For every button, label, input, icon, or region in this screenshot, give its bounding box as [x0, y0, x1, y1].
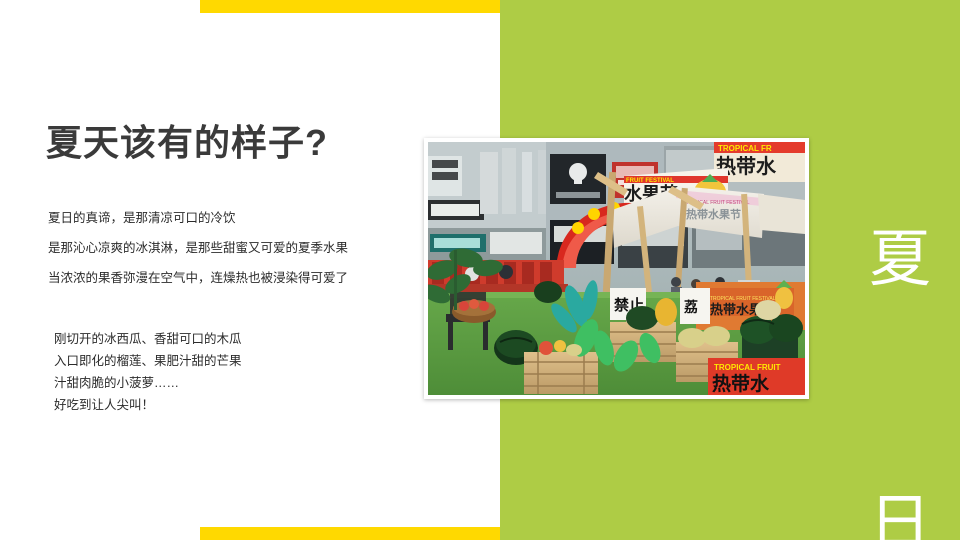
svg-text:TROPICAL FR: TROPICAL FR [718, 144, 772, 153]
vertical-title-char-1: 夏 [850, 216, 950, 304]
svg-text:荔: 荔 [683, 299, 698, 316]
fruit-list-block: 刚切开的冰西瓜、香甜可口的木瓜 入口即化的榴莲、果肥汁甜的芒果 汁甜肉脆的小菠萝… [54, 328, 384, 416]
svg-text:TROPICAL FRUIT: TROPICAL FRUIT [714, 363, 781, 372]
intro-paragraph-block: 夏日的真谛，是那清凉可口的冷饮 是那沁心凉爽的冰淇淋，是那些甜蜜又可爱的夏季水果… [48, 203, 418, 293]
vertical-festival-title: 夏 日 水 果 节 [850, 40, 950, 540]
intro-line: 是那沁心凉爽的冰淇淋，是那些甜蜜又可爱的夏季水果 [48, 233, 418, 263]
page-title: 夏天该有的样子? [46, 114, 328, 166]
svg-text:热带水果节: 热带水果节 [686, 207, 741, 221]
fruit-list-line: 刚切开的冰西瓜、香甜可口的木瓜 [54, 328, 384, 350]
festival-photo: TROPICAL FR 热带水 FRUIT FESTIVAL 水果节 [428, 142, 805, 395]
bottom-yellow-accent-bar [200, 527, 500, 540]
festival-photo-frame: TROPICAL FR 热带水 FRUIT FESTIVAL 水果节 [424, 138, 809, 399]
fruit-list-line: 入口即化的榴莲、果肥汁甜的芒果 [54, 350, 384, 372]
top-yellow-accent-bar [200, 0, 500, 13]
fruit-list-line: 汁甜肉脆的小菠萝…… [54, 372, 384, 394]
svg-text:热带水: 热带水 [712, 372, 770, 395]
slide-canvas: 夏 日 水 果 节 夏天该有的样子? 夏日的真谛，是那清凉可口的冷饮 是那沁心凉… [0, 0, 960, 540]
intro-line: 夏日的真谛，是那清凉可口的冷饮 [48, 203, 418, 233]
festival-photo-illustration: TROPICAL FR 热带水 FRUIT FESTIVAL 水果节 [428, 142, 805, 395]
intro-line: 当浓浓的果香弥漫在空气中，连燥热也被浸染得可爱了 [48, 263, 418, 293]
vertical-title-char-2: 日 [850, 480, 950, 540]
fruit-list-line: 好吃到让人尖叫！ [54, 394, 384, 416]
